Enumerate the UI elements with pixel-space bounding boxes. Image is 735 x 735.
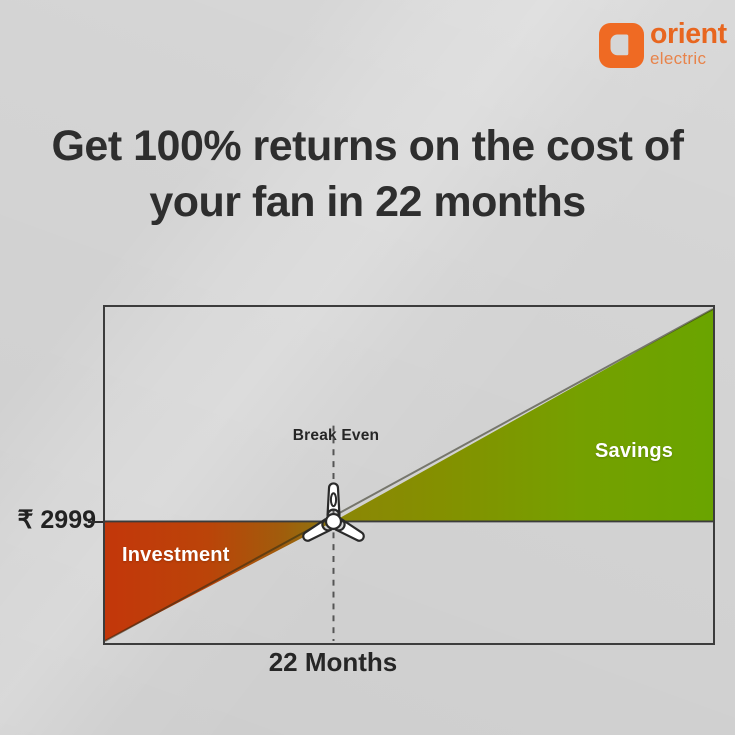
brand-logo: orient electric <box>598 19 728 75</box>
brand-name-secondary: electric <box>650 49 730 69</box>
savings-area-label: Savings <box>595 440 673 463</box>
poster-canvas: orient electric Get 100% returns on the … <box>0 0 735 735</box>
x-axis-tick-label: 22 Months <box>233 647 433 678</box>
y-axis-tick-label: ₹ 2999 <box>0 505 96 535</box>
investment-area-label: Investment <box>122 544 230 567</box>
page-title-line-1: Get 100% returns on the cost of <box>0 118 735 174</box>
chart-plot-area <box>105 307 713 643</box>
brand-wordmark: orient electric <box>650 19 730 69</box>
page-title: Get 100% returns on the cost of your fan… <box>0 118 735 230</box>
page-title-line-2: your fan in 22 months <box>0 174 735 230</box>
savings-chart: Investment Savings <box>103 305 715 645</box>
orient-q-mark-icon <box>598 22 645 69</box>
brand-name-primary: orient <box>650 19 730 49</box>
